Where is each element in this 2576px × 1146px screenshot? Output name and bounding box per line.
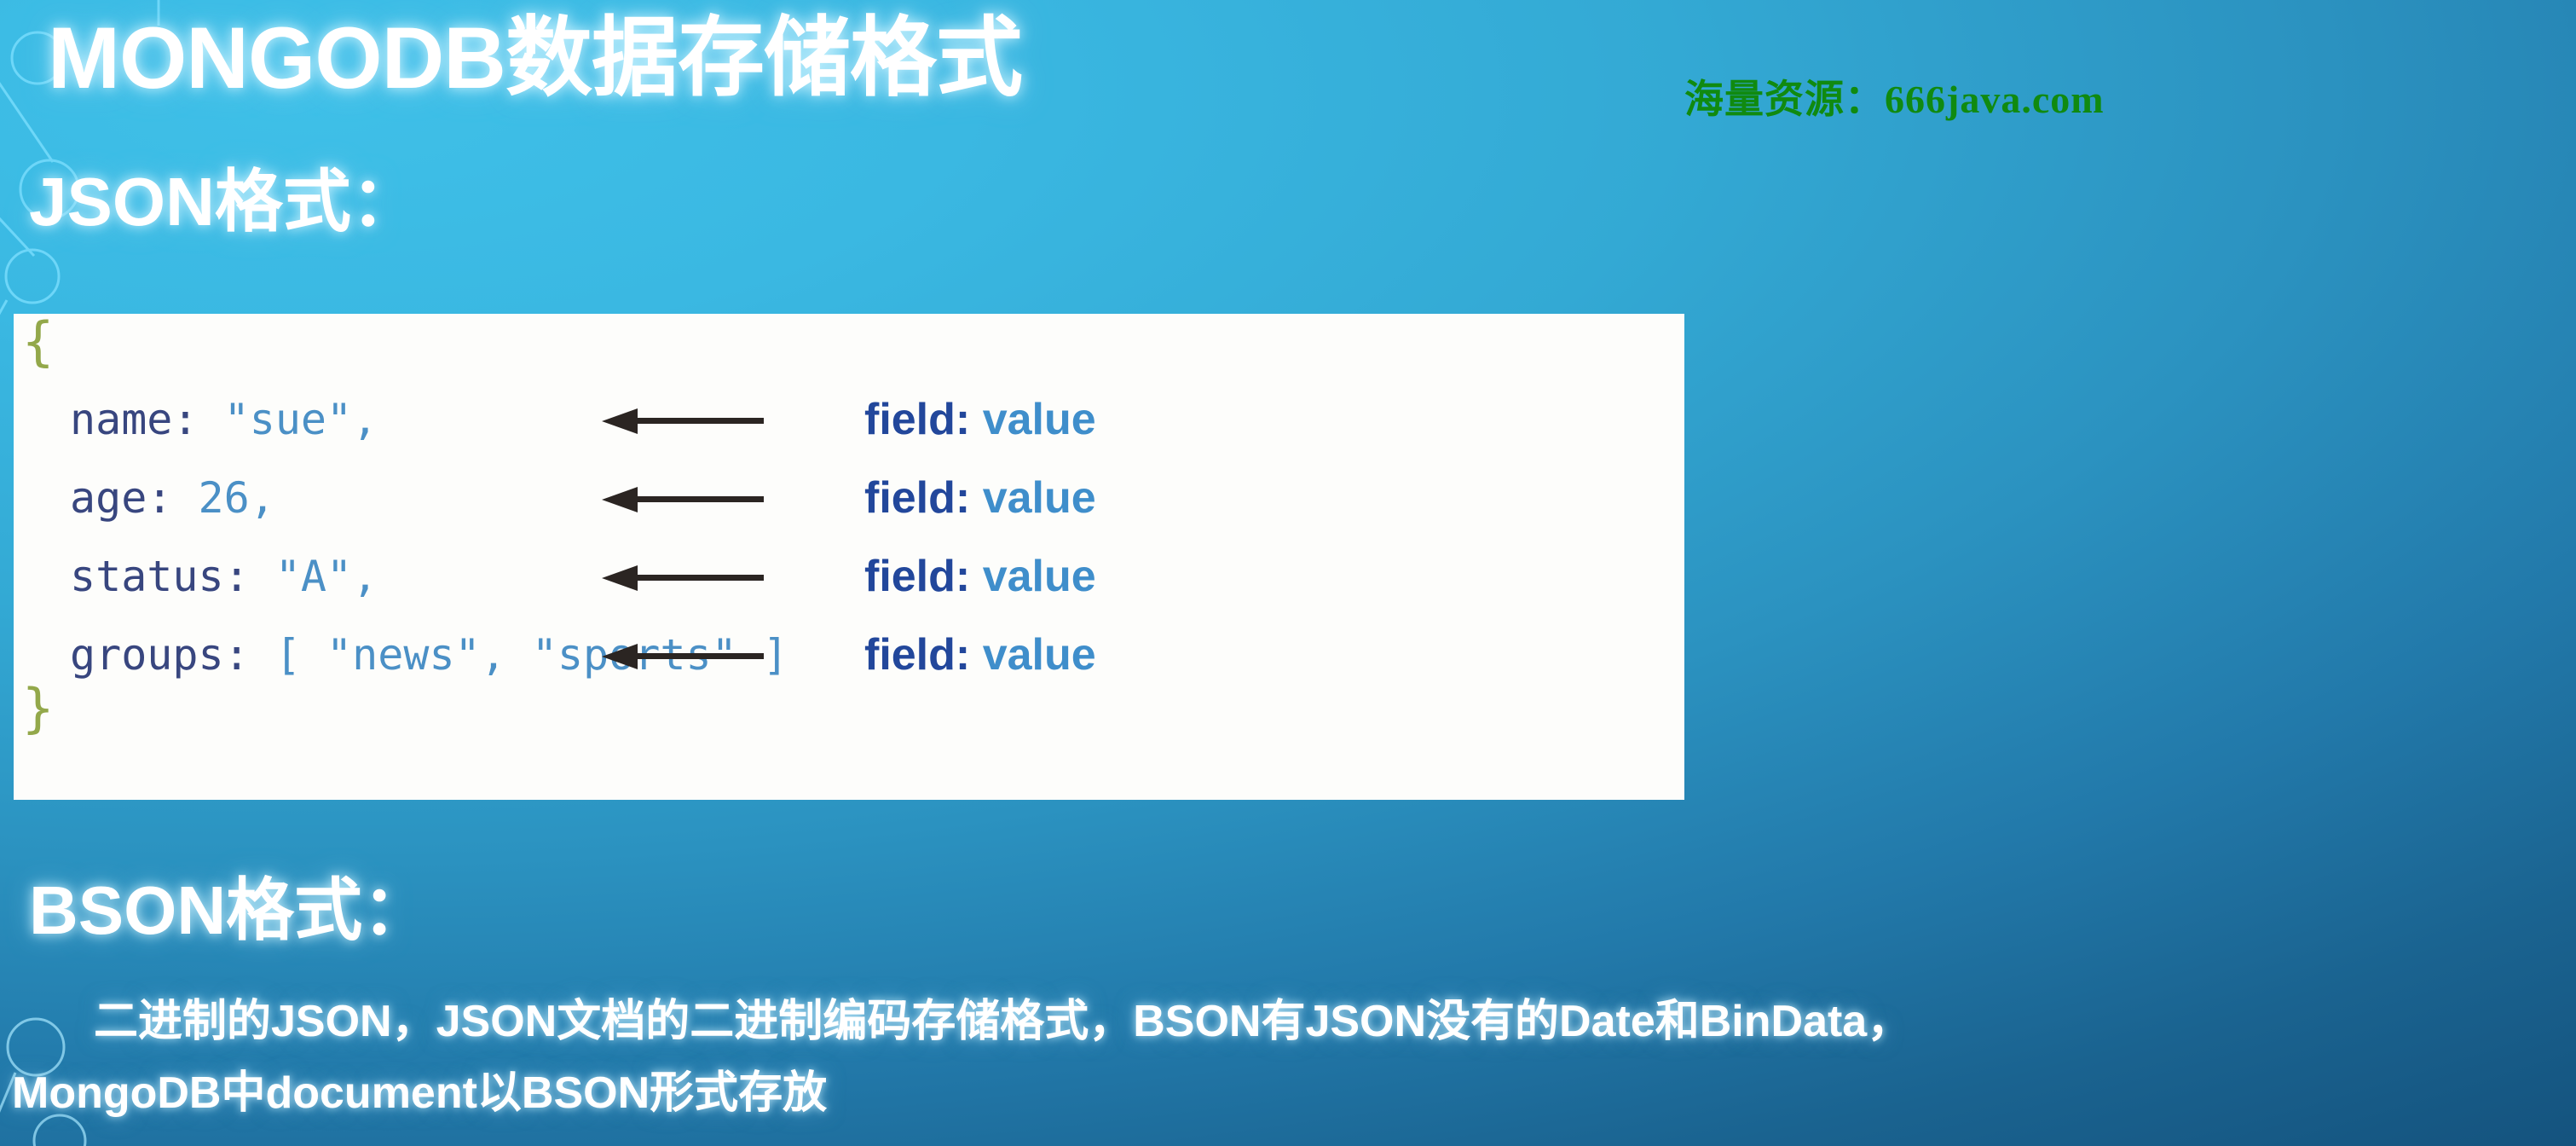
annotation-separator: : — [956, 473, 970, 523]
annotation-row: field: value — [602, 616, 1667, 694]
left-arrow-icon — [602, 408, 764, 431]
annotation-field: field — [864, 473, 956, 523]
close-brace: } — [22, 682, 54, 735]
left-arrow-icon — [602, 644, 764, 666]
code-key: status: — [70, 552, 250, 601]
field-value-label: field: value — [864, 394, 1096, 445]
bson-section-heading: BSON格式： — [29, 855, 430, 954]
annotation-separator: : — [956, 630, 970, 680]
field-value-annotations: field: value field: value field: value f… — [602, 380, 1667, 694]
field-value-label: field: value — [864, 629, 1096, 680]
code-value-text: "sue", — [224, 395, 378, 444]
annotation-value: value — [983, 552, 1096, 601]
page-title: MONGODB数据存储格式 — [48, 0, 1022, 113]
annotation-row: field: value — [602, 459, 1667, 537]
annotation-row: field: value — [602, 380, 1667, 459]
annotation-field: field — [864, 395, 956, 444]
open-brace: { — [22, 315, 54, 368]
watermark-text: 海量资源：666java.com — [1684, 68, 2105, 124]
annotation-field: field — [864, 552, 956, 601]
bson-description: 二进制的JSON，JSON文档的二进制编码存储格式，BSON有JSON没有的Da… — [0, 986, 2576, 1129]
annotation-value: value — [983, 630, 1096, 680]
code-value-text: 26, — [199, 473, 275, 523]
code-value — [199, 395, 224, 444]
annotation-value: value — [983, 395, 1096, 444]
code-value — [172, 473, 198, 523]
json-code-panel: { name: "sue", age: 26, status: "A", gro… — [14, 314, 1684, 800]
annotation-value: value — [983, 473, 1096, 523]
bson-description-line-2: MongoDB中document以BSON形式存放 — [0, 1057, 2576, 1129]
code-key: groups: — [70, 630, 250, 680]
bson-description-line-1: 二进制的JSON，JSON文档的二进制编码存储格式，BSON有JSON没有的Da… — [0, 986, 2576, 1057]
code-key: name: — [70, 395, 199, 444]
annotation-separator: : — [956, 395, 970, 444]
left-arrow-icon — [602, 565, 764, 587]
left-arrow-icon — [602, 487, 764, 509]
field-value-label: field: value — [864, 472, 1096, 524]
code-value — [250, 630, 275, 680]
code-value-text: "A", — [275, 552, 378, 601]
code-value — [250, 552, 275, 601]
slide-canvas: MONGODB数据存储格式 海量资源：666java.com JSON格式： {… — [0, 0, 2576, 1146]
field-value-label: field: value — [864, 551, 1096, 602]
annotation-field: field — [864, 630, 956, 680]
annotation-row: field: value — [602, 537, 1667, 616]
annotation-separator: : — [956, 552, 970, 601]
json-section-heading: JSON格式： — [29, 147, 419, 246]
code-key: age: — [70, 473, 172, 523]
